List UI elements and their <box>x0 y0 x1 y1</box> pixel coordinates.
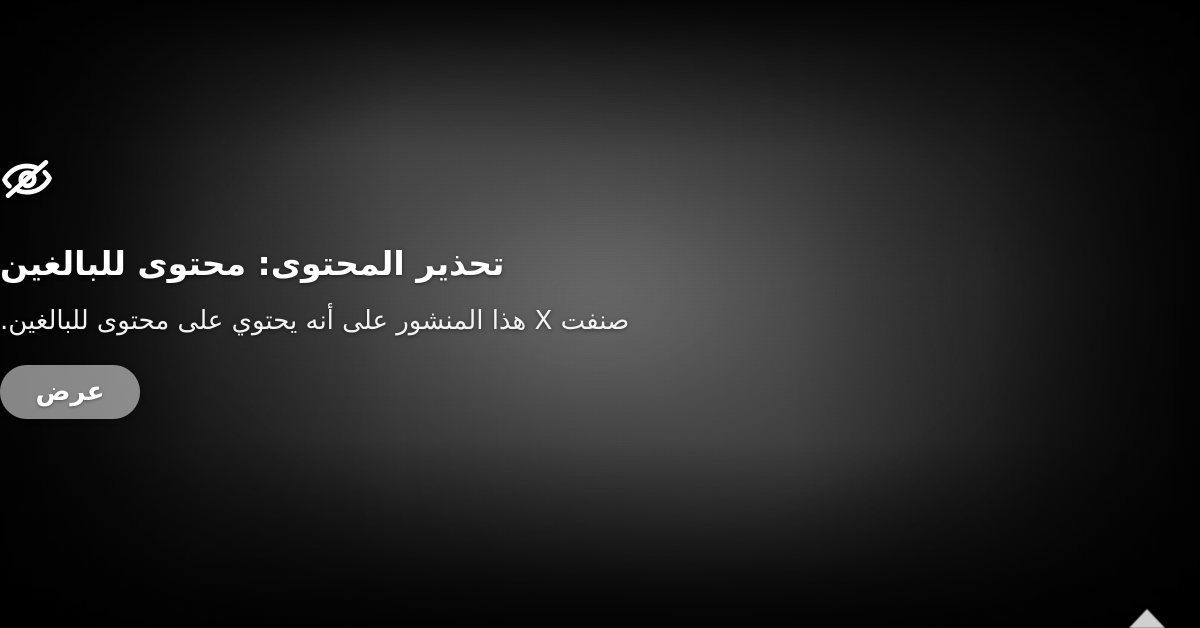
content-warning-title: تحذير المحتوى: محتوى للبالغين <box>0 244 504 284</box>
view-content-button[interactable]: عرض <box>0 365 140 419</box>
content-warning-description: صنفت X هذا المنشور على أنه يحتوي على محت… <box>0 304 629 339</box>
eye-off-icon <box>0 152 54 206</box>
content-warning-screen: تحذير المحتوى: محتوى للبالغين صنفت X هذا… <box>0 0 1200 628</box>
content-warning-panel-inner: تحذير المحتوى: محتوى للبالغين صنفت X هذا… <box>0 152 744 419</box>
content-warning-panel: تحذير المحتوى: محتوى للبالغين صنفت X هذا… <box>0 0 1200 628</box>
